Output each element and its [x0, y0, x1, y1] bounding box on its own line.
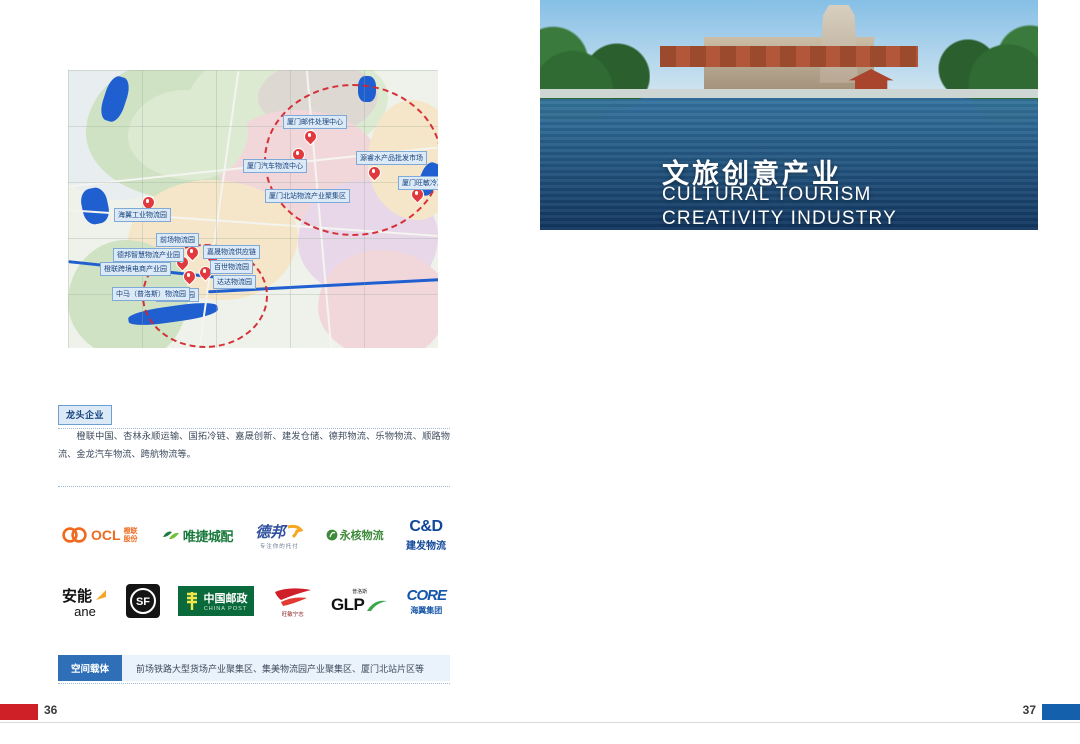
- bird-icon: [273, 584, 313, 610]
- map-label-6[interactable]: 前场物流园: [156, 233, 199, 247]
- china-post-mark-icon: [185, 591, 199, 611]
- ocl-logo: OCL 橙联股份: [62, 527, 140, 543]
- page-number-bar-right: [1042, 704, 1080, 720]
- map-label-4[interactable]: 厦门北站物流产业聚集区: [265, 189, 350, 203]
- wangdian-logo-text: 旺敏宁志: [282, 610, 304, 618]
- cnd-logo-sub: 建发物流: [406, 537, 446, 552]
- map-label-3[interactable]: 厦门旺敏冷冻仓储: [398, 176, 438, 190]
- cnd-jianfa-logo: C&D 建发物流: [406, 518, 446, 552]
- spatial-carrier-value: 前场铁路大型货场产业聚集区、集美物流园产业聚集区、厦门北站片区等: [122, 655, 450, 681]
- china-post-sub: CHINA POST: [204, 606, 247, 612]
- page-number-left: 36: [44, 703, 57, 717]
- hero-title-en-line1: CULTURAL TOURISM: [662, 183, 897, 207]
- footer-right: 37: [540, 700, 1080, 744]
- deppon-logo-sub: 专注你的托付: [260, 542, 299, 550]
- map-pin-3[interactable]: [411, 188, 422, 203]
- leaf-icon: [162, 528, 180, 542]
- map-label-8[interactable]: 橙联跨境电商产业园: [100, 262, 171, 276]
- map-pin-2[interactable]: [368, 166, 379, 181]
- glp-swoosh-icon: [366, 598, 388, 612]
- yongyu-logo-text: 永核物流: [340, 527, 384, 543]
- core-haiyi-logo: CORE 海翼集团: [407, 587, 446, 616]
- map-label-1[interactable]: 厦门汽车物流中心: [243, 159, 307, 173]
- section-divider-top: [58, 486, 450, 487]
- map-label-11[interactable]: 达达物流园: [213, 275, 256, 289]
- svg-text:SF: SF: [136, 596, 150, 608]
- weijie-logo-text: 唯捷城配: [183, 526, 233, 545]
- china-post-logo: 中国邮政 CHINA POST: [178, 586, 254, 616]
- deppon-logo-text: 德邦: [255, 521, 285, 542]
- ocl-logo-text: OCL: [91, 527, 121, 543]
- spatial-carrier-key: 空间载体: [58, 655, 122, 681]
- map-pin-9[interactable]: [183, 270, 194, 285]
- map-label-10[interactable]: 百世物流园: [210, 260, 253, 274]
- left-page: 厦门邮件处理中心厦门汽车物流中心源睿水产品批发市场厦门旺敏冷冻仓储厦门北站物流产…: [0, 0, 540, 744]
- page-number-right: 37: [1023, 703, 1036, 717]
- right-page: 文旅创意产业 CULTURAL TOURISM CREATIVITY INDUS…: [540, 0, 1080, 744]
- map-label-7[interactable]: 德邦智慧物流产业园: [113, 248, 184, 262]
- ane-logo-sub: ane: [74, 606, 96, 618]
- core-logo-text: CORE: [407, 587, 446, 604]
- ane-arrow-icon: [94, 588, 108, 602]
- leading-enterprises-body: 橙联中国、杏林永顺运输、国拓冷链、嘉晟创新、建发仓储、德邦物流、乐物物流、顺路物…: [58, 428, 450, 463]
- weijie-chengpei-logo: 唯捷城配: [162, 526, 233, 545]
- map-label-0[interactable]: 厦门邮件处理中心: [283, 115, 347, 129]
- map-label-5[interactable]: 海翼工业物流园: [114, 208, 171, 222]
- map-label-9[interactable]: 嘉晟物流供应链: [203, 245, 260, 259]
- magazine-spread: 厦门邮件处理中心厦门汽车物流中心源睿水产品批发市场厦门旺敏冷冻仓储厦门北站物流产…: [0, 0, 1080, 744]
- map-label-13[interactable]: 中马（普洛斯）物流园: [112, 287, 190, 301]
- section-divider-bottom: [58, 683, 450, 684]
- yongyu-wuliu-logo: 永核物流: [326, 527, 384, 543]
- wangdian-ningzhi-logo: 旺敏宁志: [273, 584, 313, 618]
- hero-title-en-line2: CREATIVITY INDUSTRY: [662, 207, 897, 230]
- glp-logo-sub: 普洛斯: [352, 588, 367, 595]
- china-post-text: 中国邮政: [203, 590, 247, 606]
- sf-mark-icon: SF: [129, 587, 157, 615]
- ocl-logo-sub: 橙联股份: [124, 527, 140, 543]
- logistics-distribution-map[interactable]: 厦门邮件处理中心厦门汽车物流中心源睿水产品批发市场厦门旺敏冷冻仓储厦门北站物流产…: [68, 70, 438, 348]
- logo-row-2: 安能 ane SF 中国邮政: [62, 578, 446, 624]
- hero-title-en: CULTURAL TOURISM CREATIVITY INDUSTRY: [662, 183, 897, 230]
- spatial-carrier-row: 空间载体 前场铁路大型货场产业聚集区、集美物流园产业聚集区、厦门北站片区等: [58, 655, 450, 681]
- footer-left: 36: [0, 700, 540, 744]
- cnd-logo-text: C&D: [409, 518, 442, 536]
- leading-enterprises-tag: 龙头企业: [58, 405, 112, 425]
- sf-express-logo: SF: [126, 584, 160, 618]
- ocl-mark-icon: [62, 527, 88, 543]
- ane-logo-text: 安能: [62, 585, 92, 606]
- leading-enterprises-heading: 龙头企业: [58, 405, 450, 429]
- deppon-logo: 德邦 专注你的托付: [255, 521, 303, 550]
- yongyu-mark-icon: [326, 529, 338, 541]
- deppon-arrow-icon: [287, 524, 303, 539]
- map-pin-0[interactable]: [304, 130, 315, 145]
- core-logo-sub: 海翼集团: [410, 605, 442, 616]
- ane-logo: 安能 ane: [62, 585, 108, 618]
- hero-banner-image: 文旅创意产业 CULTURAL TOURISM CREATIVITY INDUS…: [540, 0, 1038, 230]
- map-pin-8[interactable]: [199, 266, 210, 281]
- page-number-bar-left: [0, 704, 38, 720]
- glp-logo: 普洛斯 GLP: [331, 588, 388, 615]
- logo-row-1: OCL 橙联股份 唯捷城配 德邦 专注你的托付: [62, 512, 446, 558]
- glp-logo-text: GLP: [331, 595, 364, 615]
- map-label-2[interactable]: 源睿水产品批发市场: [356, 151, 427, 165]
